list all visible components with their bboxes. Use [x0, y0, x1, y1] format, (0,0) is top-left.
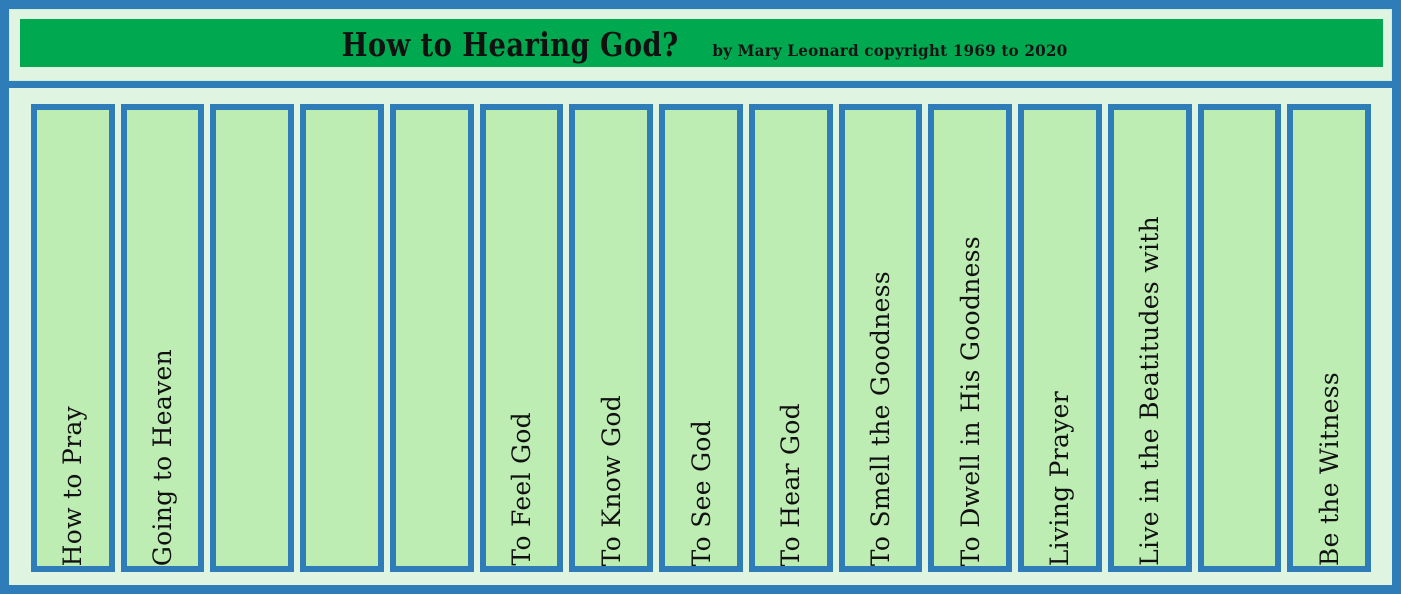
author-copyright-byline: by Mary Leonard copyright 1969 to 2020: [712, 41, 1067, 60]
column-label: To See God: [689, 406, 714, 566]
page-title: How to Hearing God?: [341, 25, 678, 64]
column-inner[interactable]: [396, 110, 468, 566]
header-panel: How to Hearing God? by Mary Leonard copy…: [9, 9, 1392, 81]
column-label: To Know God: [599, 381, 624, 566]
column-label: Living Prayer: [1047, 377, 1072, 566]
column-inner[interactable]: Living Prayer: [1024, 110, 1096, 566]
column-card[interactable]: [390, 104, 474, 572]
column-card[interactable]: To Dwell in His Goodness: [928, 104, 1012, 572]
board-panel: How to Pray Going to Heaven: [9, 88, 1392, 585]
column-inner[interactable]: To Dwell in His Goodness: [934, 110, 1006, 566]
column-inner[interactable]: Going to Heaven: [127, 110, 199, 566]
column-label: To Smell the Goodness: [868, 257, 893, 566]
column-inner[interactable]: To See God: [665, 110, 737, 566]
column-label: To Hear God: [778, 389, 803, 566]
column-label: To Dwell in His Goodness: [958, 222, 983, 566]
column-inner[interactable]: To Smell the Goodness: [845, 110, 917, 566]
title-line: How to Hearing God? by Mary Leonard copy…: [327, 25, 1077, 64]
column-card[interactable]: How to Pray: [31, 104, 115, 572]
column-inner[interactable]: [1204, 110, 1276, 566]
column-card[interactable]: To Know God: [569, 104, 653, 572]
column-label: How to Pray: [60, 392, 85, 566]
column-card[interactable]: To Smell the Goodness: [839, 104, 923, 572]
column-card[interactable]: Live in the Beatitudes with: [1108, 104, 1192, 572]
column-label: Going to Heaven: [150, 335, 175, 566]
column-card[interactable]: [210, 104, 294, 572]
app-frame: How to Hearing God? by Mary Leonard copy…: [0, 0, 1401, 594]
column-card[interactable]: Living Prayer: [1018, 104, 1102, 572]
column-label: To Feel God: [509, 398, 534, 566]
columns-row: How to Pray Going to Heaven: [31, 104, 1371, 572]
column-card[interactable]: [1198, 104, 1282, 572]
column-card[interactable]: Going to Heaven: [121, 104, 205, 572]
title-bar: How to Hearing God? by Mary Leonard copy…: [20, 19, 1383, 67]
column-inner[interactable]: Live in the Beatitudes with: [1114, 110, 1186, 566]
column-card[interactable]: Be the Witness: [1287, 104, 1371, 572]
column-card[interactable]: To Hear God: [749, 104, 833, 572]
column-label: Be the Witness: [1317, 358, 1342, 566]
column-inner[interactable]: To Know God: [575, 110, 647, 566]
column-inner[interactable]: To Feel God: [486, 110, 558, 566]
column-card[interactable]: To Feel God: [480, 104, 564, 572]
column-inner[interactable]: [216, 110, 288, 566]
column-card[interactable]: [300, 104, 384, 572]
column-label: Live in the Beatitudes with: [1137, 202, 1162, 566]
column-inner[interactable]: [306, 110, 378, 566]
column-card[interactable]: To See God: [659, 104, 743, 572]
column-inner[interactable]: How to Pray: [37, 110, 109, 566]
column-inner[interactable]: To Hear God: [755, 110, 827, 566]
column-inner[interactable]: Be the Witness: [1293, 110, 1365, 566]
